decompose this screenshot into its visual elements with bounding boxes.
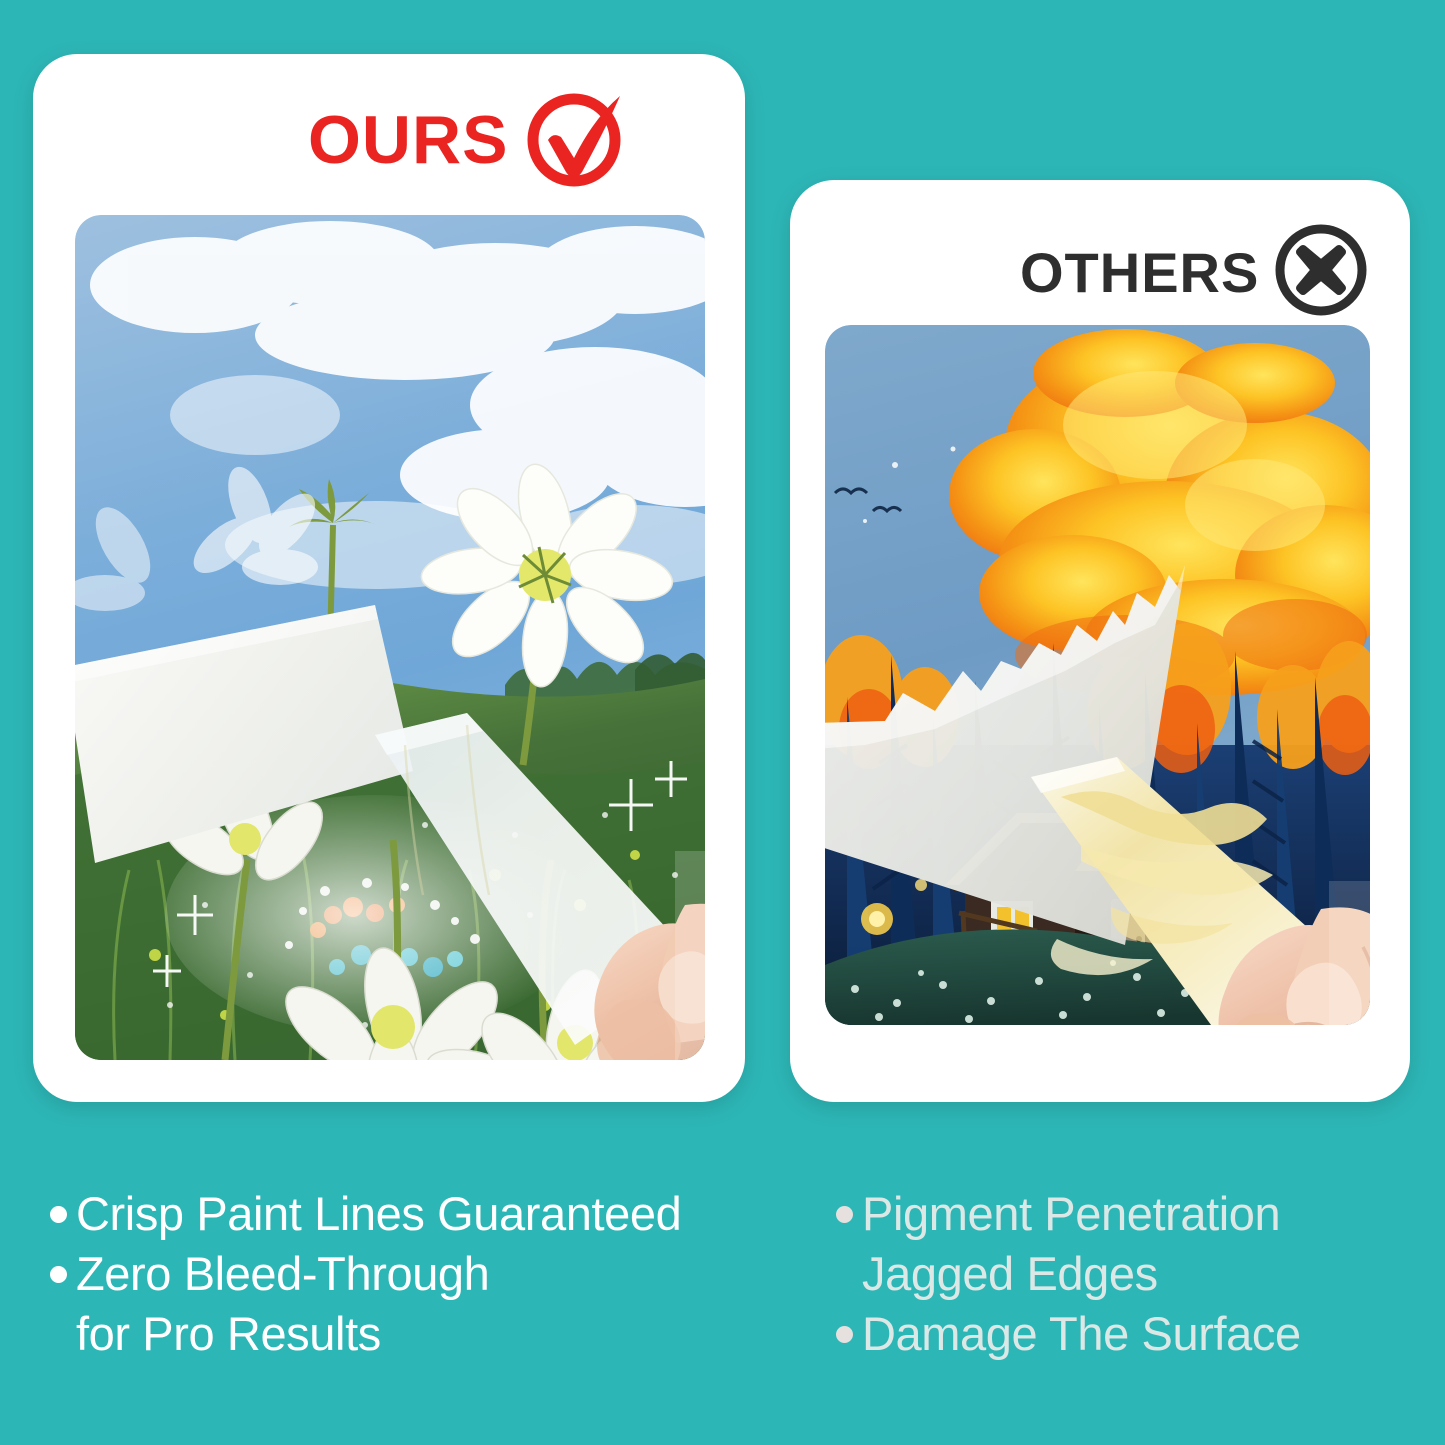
ours-bullet-list: Crisp Paint Lines Guaranteed Zero Bleed-… xyxy=(50,1184,820,1364)
bullet-text: Zero Bleed-Through xyxy=(76,1244,489,1304)
ours-heading-group: OURS xyxy=(308,84,628,195)
list-item: Damage The Surface xyxy=(836,1304,1416,1364)
bullet-dot xyxy=(50,1206,67,1223)
bullet-dot xyxy=(836,1326,853,1343)
bullet-dot-placeholder xyxy=(836,1266,853,1283)
x-circle-icon xyxy=(1273,222,1369,323)
list-item: Zero Bleed-Through xyxy=(50,1244,820,1304)
bullet-text: Crisp Paint Lines Guaranteed xyxy=(76,1184,681,1244)
bullet-dot-placeholder xyxy=(50,1326,67,1343)
ours-artwork xyxy=(75,215,705,1060)
list-item: Crisp Paint Lines Guaranteed xyxy=(50,1184,820,1244)
list-item: Jagged Edges xyxy=(836,1244,1416,1304)
list-item: Pigment Penetration xyxy=(836,1184,1416,1244)
others-bullet-list: Pigment Penetration Jagged Edges Damage … xyxy=(836,1184,1416,1364)
bullet-dot xyxy=(50,1266,67,1283)
check-circle-icon xyxy=(522,84,628,195)
list-item: for Pro Results xyxy=(50,1304,820,1364)
bullet-text: for Pro Results xyxy=(76,1304,381,1364)
others-heading-label: OTHERS xyxy=(1020,245,1259,301)
bullet-dot xyxy=(836,1206,853,1223)
bullet-text: Jagged Edges xyxy=(862,1244,1158,1304)
bullet-text: Pigment Penetration xyxy=(862,1184,1280,1244)
others-artwork xyxy=(825,325,1370,1025)
others-heading-group: OTHERS xyxy=(1020,222,1369,323)
bullet-text: Damage The Surface xyxy=(862,1304,1301,1364)
ours-heading-label: OURS xyxy=(308,106,508,174)
